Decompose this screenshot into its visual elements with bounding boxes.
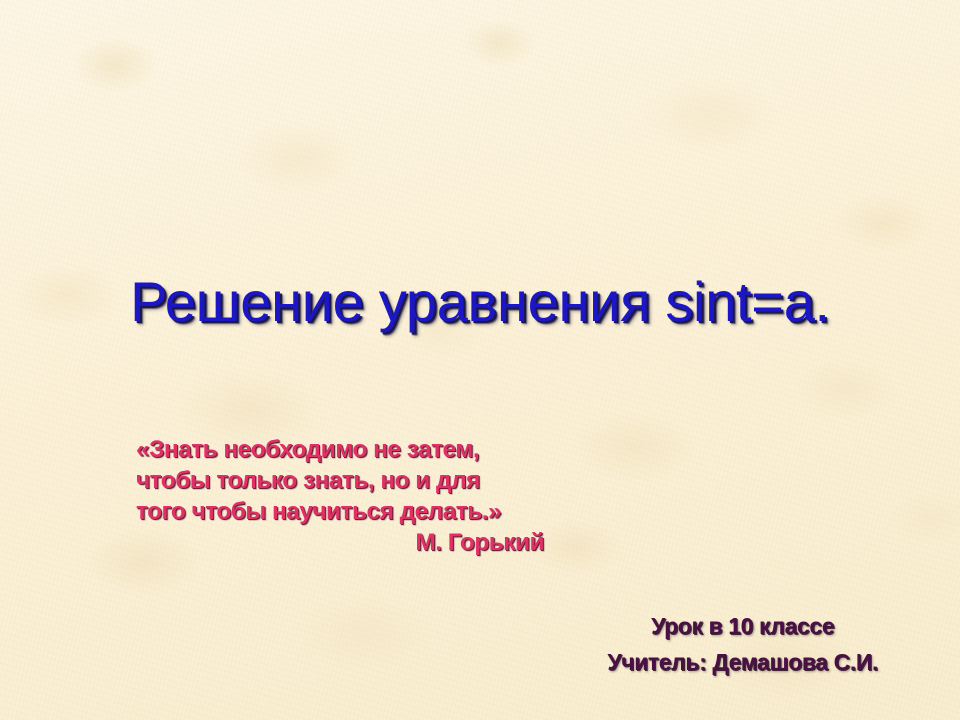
slide-title: Решение уравнения sint=a. — [0, 269, 960, 334]
teacher-name-label: Учитель: Демашова С.И. — [607, 644, 878, 680]
quote-line-2: чтобы только знать, но и для — [136, 465, 556, 496]
presentation-slide: Решение уравнения sint=a. «Знать необход… — [0, 0, 960, 720]
lesson-grade-label: Урок в 10 классе — [607, 608, 878, 644]
quote-line-3: того чтобы научиться делать.» — [136, 496, 556, 527]
quote-author: М. Горький — [136, 527, 556, 558]
lesson-credit-block: Урок в 10 классе Учитель: Демашова С.И. — [607, 608, 878, 680]
quote-line-1: «Знать необходимо не затем, — [136, 434, 556, 465]
epigraph-quote: «Знать необходимо не затем, чтобы только… — [136, 434, 556, 558]
